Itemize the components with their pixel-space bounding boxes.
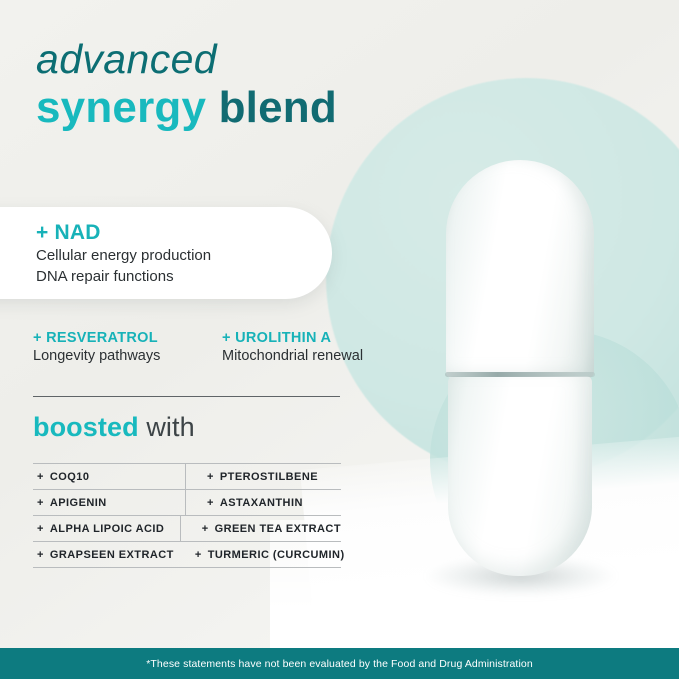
feature-resveratrol-title: + RESVERATROL xyxy=(33,330,222,346)
headline-rest xyxy=(206,83,218,132)
ingredient-rule xyxy=(33,567,341,568)
table-row: + COQ10 + PTEROSTILBENE xyxy=(33,464,341,489)
feature-urolithin-a: + UROLITHIN A Mitochondrial renewal xyxy=(222,330,411,364)
boosted-highlight: boosted xyxy=(33,412,139,442)
feature-urolithin-a-title: + UROLITHIN A xyxy=(222,330,411,346)
footer-disclaimer-bar: *These statements have not been evaluate… xyxy=(0,648,679,679)
plus-icon: + xyxy=(37,471,44,483)
boosted-with-heading: boosted with xyxy=(33,412,195,443)
nad-title: + NAD xyxy=(36,221,211,245)
ingredient-label: ASTAXANTHIN xyxy=(220,497,303,509)
ingredient-cell: + PTEROSTILBENE xyxy=(186,471,341,483)
headline-highlight: synergy xyxy=(36,83,206,132)
ingredient-cell: + GREEN TEA EXTRACT xyxy=(181,523,341,535)
feature-resveratrol: + RESVERATROL Longevity pathways xyxy=(33,330,222,364)
ingredient-cell: + APIGENIN xyxy=(33,497,185,509)
section-divider xyxy=(33,396,340,397)
nad-benefit-1: Cellular energy production xyxy=(36,246,211,266)
feature-resveratrol-desc: Longevity pathways xyxy=(33,348,222,364)
nad-card-content: + NAD Cellular energy production DNA rep… xyxy=(36,221,211,288)
feature-urolithin-a-desc: Mitochondrial renewal xyxy=(222,348,411,364)
plus-icon: + xyxy=(37,497,44,509)
boosted-rest: with xyxy=(146,412,194,442)
capsule-top-half xyxy=(446,160,594,378)
ingredient-cell: + TURMERIC (CURCUMIN) xyxy=(174,549,345,561)
ingredient-cell: + ALPHA LIPOIC ACID xyxy=(33,523,180,535)
ingredients-grid: + COQ10 + PTEROSTILBENE + APIGENIN + AST… xyxy=(33,463,341,568)
ingredient-cell: + ASTAXANTHIN xyxy=(186,497,341,509)
ingredient-label: ALPHA LIPOIC ACID xyxy=(50,523,164,535)
ingredient-cell: + COQ10 xyxy=(33,471,185,483)
plus-icon: + xyxy=(207,497,214,509)
capsule-seam-line xyxy=(445,372,595,377)
ingredient-cell: + GRAPSEEN EXTRACT xyxy=(33,549,174,561)
capsule-bottom-half xyxy=(448,376,592,576)
ingredient-label: COQ10 xyxy=(50,471,90,483)
plus-icon: + xyxy=(195,549,202,561)
table-row: + ALPHA LIPOIC ACID + GREEN TEA EXTRACT xyxy=(33,516,341,541)
ingredient-label: TURMERIC (CURCUMIN) xyxy=(208,549,345,561)
plus-icon: + xyxy=(202,523,209,535)
page-title: advanced synergy blend xyxy=(36,38,337,130)
headline-line-1: advanced xyxy=(36,38,337,81)
capsule-product-image xyxy=(446,160,594,610)
plus-icon: + xyxy=(207,471,214,483)
ingredient-label: GREEN TEA EXTRACT xyxy=(215,523,341,535)
nad-benefit-2: DNA repair functions xyxy=(36,267,211,287)
headline-rest-word: blend xyxy=(219,83,337,132)
ingredient-label: PTEROSTILBENE xyxy=(220,471,318,483)
ingredient-label: APIGENIN xyxy=(50,497,107,509)
plus-icon: + xyxy=(37,523,44,535)
ingredient-label: GRAPSEEN EXTRACT xyxy=(50,549,174,561)
table-row: + GRAPSEEN EXTRACT + TURMERIC (CURCUMIN) xyxy=(33,542,341,567)
secondary-features: + RESVERATROL Longevity pathways + UROLI… xyxy=(33,330,433,364)
footer-disclaimer-text: *These statements have not been evaluate… xyxy=(146,658,533,670)
product-infographic: advanced synergy blend + NAD Cellular en… xyxy=(0,0,679,679)
plus-icon: + xyxy=(37,549,44,561)
nad-feature-card: + NAD Cellular energy production DNA rep… xyxy=(0,207,332,299)
table-row: + APIGENIN + ASTAXANTHIN xyxy=(33,490,341,515)
headline-line-2: synergy blend xyxy=(36,85,337,131)
